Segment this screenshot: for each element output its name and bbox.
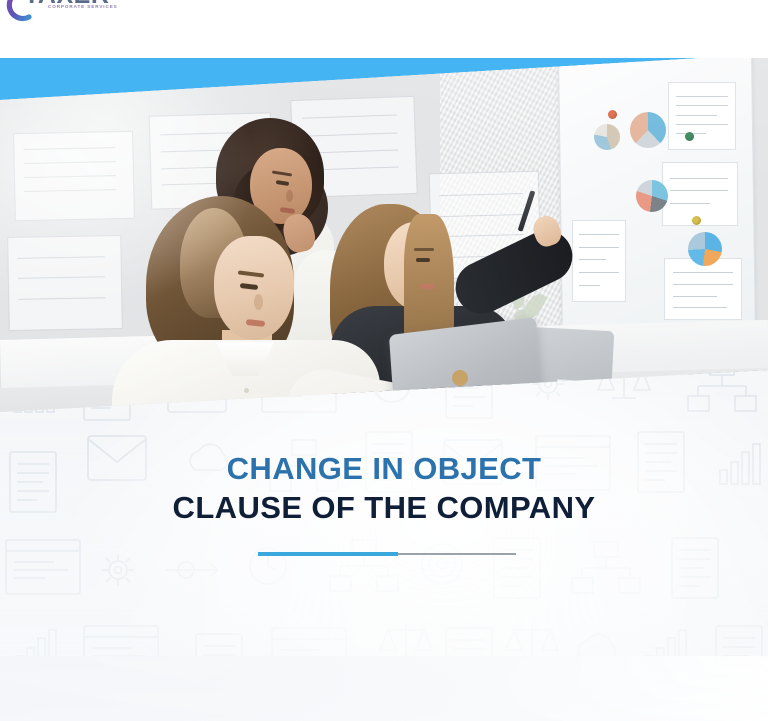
page-title-line-1: CHANGE IN OBJECT <box>0 452 768 485</box>
magnet <box>608 110 617 119</box>
laptop-keyboard <box>361 407 514 430</box>
chair-leg <box>699 392 711 430</box>
page-title-line-2: CLAUSE OF THE COMPANY <box>0 491 768 524</box>
desk-paper <box>599 390 691 430</box>
desk-paper <box>555 379 637 420</box>
divider-blue-segment <box>258 552 398 556</box>
chair-leg <box>749 388 760 430</box>
whiteboard-paper <box>668 82 736 150</box>
desk-paper <box>275 420 374 430</box>
divider-gray-segment <box>398 553 516 555</box>
hero-photo <box>0 40 768 430</box>
title-divider <box>258 552 516 556</box>
pie-chart-icon <box>630 112 666 148</box>
header-bar: TAXER CORPORATE SERVICES <box>0 0 768 58</box>
whiteboard-paper <box>572 220 626 302</box>
wall-paper <box>7 235 123 331</box>
pie-chart-icon <box>594 124 620 150</box>
hero-banner <box>0 40 768 430</box>
pie-chart-icon <box>688 232 722 266</box>
page-root: TAXER CORPORATE SERVICES <box>0 0 768 721</box>
hero-photo-inner <box>0 40 768 430</box>
logo-tagline: CORPORATE SERVICES <box>48 4 118 9</box>
desk-paper <box>484 387 580 430</box>
brand-logo[interactable]: TAXER CORPORATE SERVICES <box>2 0 152 26</box>
pie-chart-icon <box>636 180 668 212</box>
title-block: CHANGE IN OBJECT CLAUSE OF THE COMPANY <box>0 452 768 525</box>
magnet <box>685 132 694 141</box>
magnet <box>692 216 701 225</box>
whiteboard-paper <box>664 258 742 320</box>
laptop-base <box>345 398 538 430</box>
wall-paper <box>13 131 135 221</box>
whiteboard-paper <box>662 162 738 226</box>
